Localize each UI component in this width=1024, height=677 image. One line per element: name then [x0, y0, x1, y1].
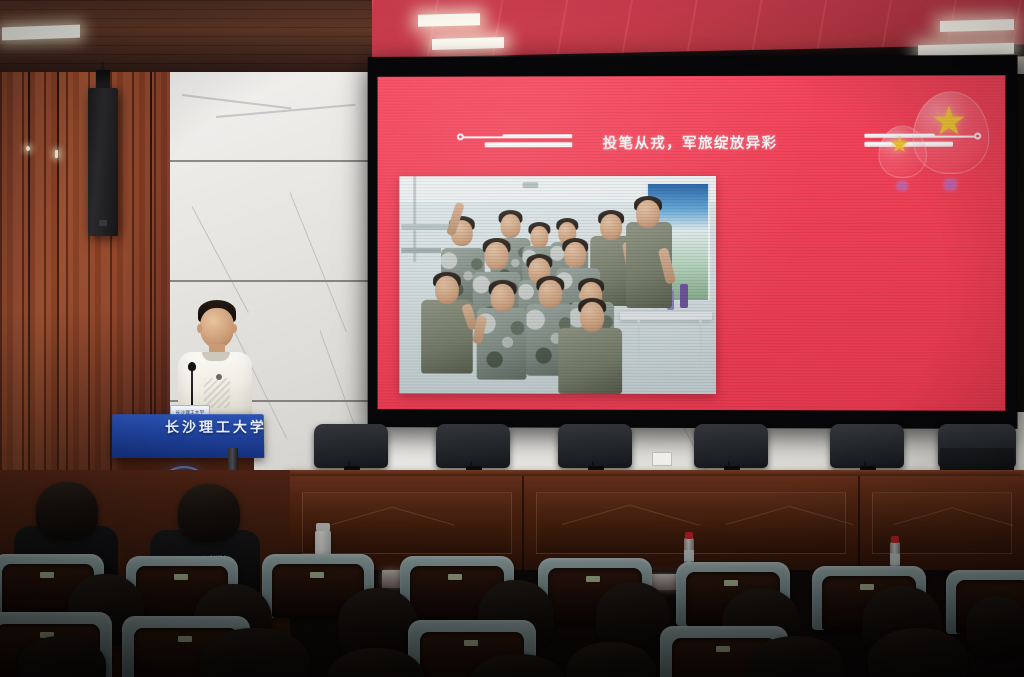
presenter-shirt-graphic — [204, 378, 230, 408]
wall-outlet-plate — [652, 452, 672, 466]
marble-grout-2 — [170, 280, 386, 282]
photo-bottle-1 — [680, 284, 688, 308]
marble-vein-4 — [290, 192, 347, 331]
water-bottle-label-2 — [890, 554, 900, 565]
decor-bar-left-1 — [503, 134, 573, 138]
podium-university-name: 长沙理工大学 — [132, 417, 300, 437]
presenter-head — [200, 308, 234, 348]
water-bottle-cap-1 — [685, 532, 693, 539]
led-display-screen[interactable]: 投笔从戎，军旅绽放异彩 ★ ★ — [378, 75, 1006, 411]
marble-grout-1 — [170, 160, 386, 162]
slide-title: 投笔从戎，军旅绽放异彩 — [603, 132, 778, 153]
balloon-star-icon: ★ — [931, 101, 967, 141]
marble-vein-1 — [182, 94, 291, 109]
photo-bunk-bed-rail-1 — [401, 224, 449, 230]
hot-air-balloon-small-icon: ★ — [878, 126, 926, 196]
ceiling-light-5 — [2, 25, 80, 41]
balloon-star-small-icon: ★ — [890, 134, 910, 156]
marble-vein-6 — [320, 330, 359, 434]
photo-desk-leg-2 — [699, 320, 702, 380]
stage-chair-1 — [314, 424, 388, 468]
led-display-frame: 投笔从戎，军旅绽放异彩 ★ ★ — [368, 55, 1018, 429]
ceiling-light-3 — [940, 19, 1014, 32]
stage-chair-3 — [558, 424, 632, 468]
stage-chair-2 — [436, 424, 510, 468]
speaker-mount-bracket — [96, 70, 110, 90]
stage-chair-5 — [830, 424, 904, 468]
slide-group-photo — [399, 176, 716, 394]
balloon-basket-small — [898, 182, 907, 190]
stage-chair-4 — [694, 424, 768, 468]
presenter-ear-right — [232, 324, 237, 333]
photo-desk-leg-1 — [637, 320, 640, 376]
audience-area: SLIP INTO THE CHILL — [0, 470, 1024, 677]
audience-member-17 — [868, 628, 968, 677]
thermos-lid — [316, 523, 330, 531]
marble-vein-3 — [192, 206, 249, 312]
water-bottle-cap-2 — [891, 536, 899, 543]
photo-desk — [620, 312, 712, 320]
line-array-speaker — [88, 88, 118, 236]
ceiling-light-1 — [418, 13, 480, 27]
balloon-basket-large — [945, 180, 956, 190]
water-bottle-label-1 — [684, 550, 694, 561]
presenter-shirt-logo — [216, 374, 222, 380]
slide-decor-left — [457, 130, 574, 152]
lecture-hall-scene: 投笔从戎，军旅绽放异彩 ★ ★ — [0, 0, 1024, 677]
podium-front-panel: 长沙理工大学 — [112, 414, 265, 458]
presenter-ear-left — [197, 324, 202, 333]
decor-bar-left-2 — [485, 142, 573, 147]
photo-bunk-bed-rail-2 — [401, 248, 441, 253]
ceiling-light-2 — [432, 37, 504, 50]
photo-ceiling-fan-icon — [522, 182, 538, 188]
audience-member-10 — [966, 596, 1024, 658]
